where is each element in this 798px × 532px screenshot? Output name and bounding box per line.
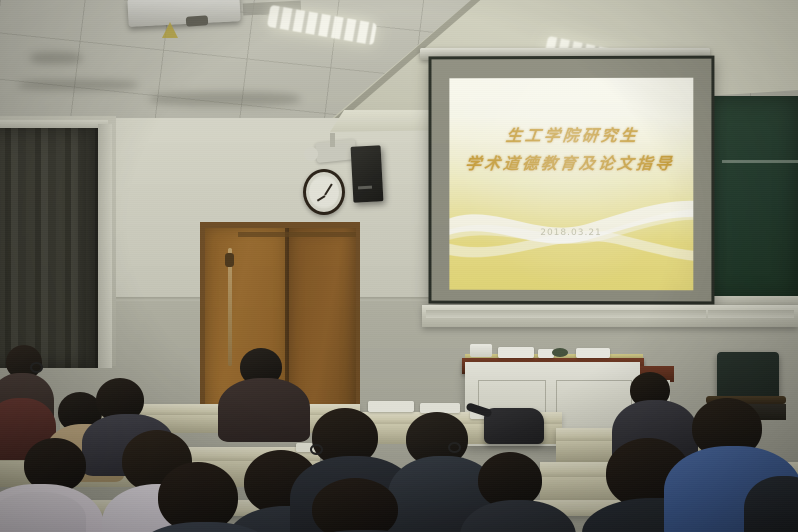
cup-icon [552, 348, 568, 357]
paper-stack [576, 348, 610, 358]
clock-face [309, 175, 339, 209]
chalk-ledge-groove [708, 310, 794, 318]
person-torso [218, 378, 310, 442]
projector-lens-icon [186, 15, 209, 27]
podium-items [476, 346, 626, 358]
window-curtain[interactable] [0, 128, 102, 368]
glasses-icon [310, 444, 323, 455]
chalk-ledge-groove [426, 310, 706, 318]
clock-minute-hand [324, 184, 333, 196]
wall-speaker-icon [351, 145, 384, 202]
lecture-hall-photo: 生工学院研究生 学术道德教育及论文指导 2018.03.21 [0, 0, 798, 532]
wall-bracket-round [304, 147, 318, 161]
slide-title-line-2: 学术道德教育及论文指导 [449, 150, 693, 178]
ceiling-stain [18, 80, 138, 90]
chalkboard-seam [722, 160, 798, 163]
slide-title: 生工学院研究生 学术道德教育及论文指导 [449, 122, 693, 178]
clock-hour-hand [317, 195, 326, 201]
slide-title-line-1: 生工学院研究生 [449, 122, 693, 150]
backpack [484, 408, 544, 444]
door-transom-line [238, 232, 356, 237]
wall-clock-icon [303, 169, 345, 215]
paper-sheet [368, 401, 414, 412]
wall-conduit [330, 133, 335, 147]
glasses-icon [448, 442, 461, 453]
paper-stack [498, 347, 534, 358]
person-head [312, 478, 398, 532]
door-lock-icon[interactable] [225, 253, 234, 267]
presentation-slide: 生工学院研究生 学术道德教育及论文指导 2018.03.21 [449, 78, 693, 291]
projection-screen[interactable]: 生工学院研究生 学术道德教育及论文指导 2018.03.21 [429, 56, 715, 305]
glasses-icon [30, 362, 43, 373]
ceiling-stain [150, 92, 300, 106]
slide-date: 2018.03.21 [449, 228, 693, 238]
ceiling-stain [30, 52, 82, 64]
slide-wave-graphic-secondary [449, 210, 693, 274]
chalkboard [700, 96, 798, 302]
window-jamb [98, 124, 112, 368]
